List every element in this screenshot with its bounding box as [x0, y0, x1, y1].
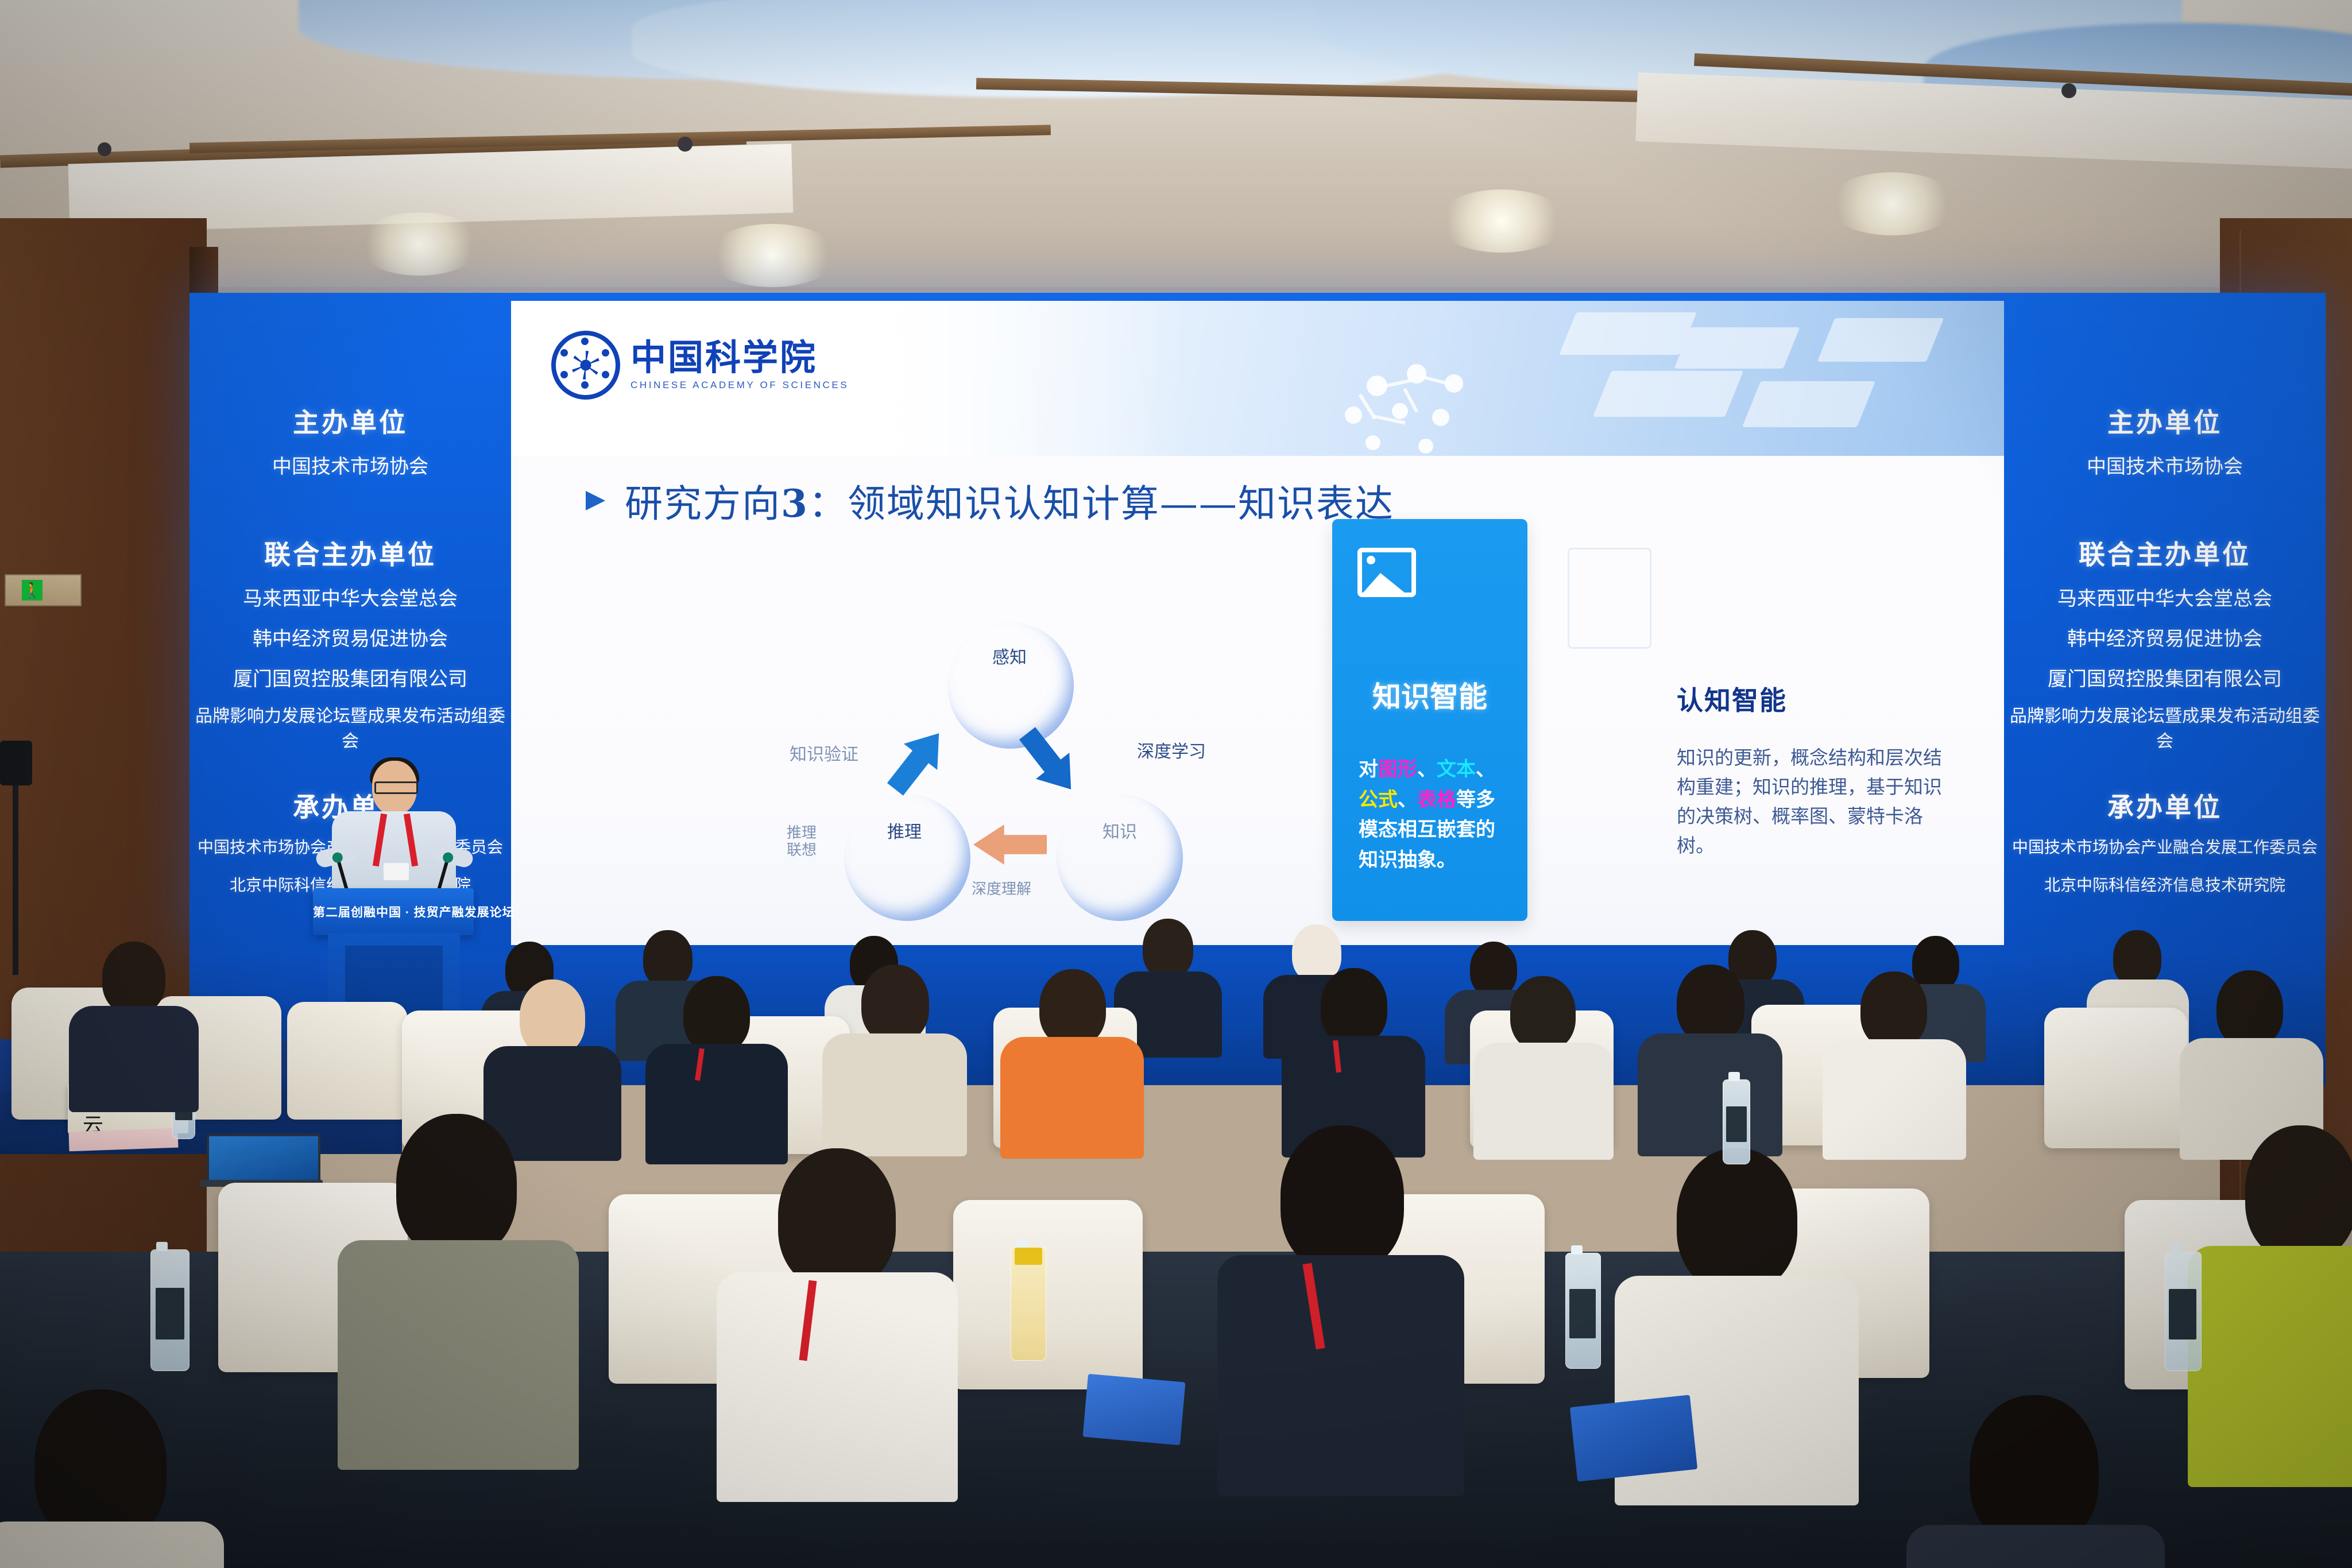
attendee-body: [1217, 1255, 1464, 1496]
led-stage-screen: 主办单位 中国技术市场协会 联合主办单位 马来西亚中华大会堂总会 韩中经济贸易促…: [189, 293, 2326, 953]
cas-name-en: CHINESE ACADEMY OF SCIENCES: [630, 380, 849, 391]
attendee-head: [1039, 969, 1106, 1046]
attendee-head: [396, 1114, 517, 1257]
attendee-head: [1281, 1125, 1404, 1272]
attendee-head: [1677, 1148, 1797, 1292]
conference-hall-photo: 🚶 主办单位 中国技术市场协会 联合主办单位 马来西亚中华大会堂总会 韩中经济贸…: [0, 0, 2352, 1568]
right-cohost-org-3: 厦门国贸控股集团有限公司: [2004, 663, 2326, 691]
ceiling-spotlight-2: [98, 142, 111, 156]
title-number: 3: [781, 481, 808, 526]
attendee-body: [822, 1033, 967, 1156]
ceiling-downlight-2: [706, 224, 838, 287]
water-bottle-4: [2165, 1252, 2202, 1371]
slide-title-row: 研究方向3：领域知识认知计算——知识表达: [586, 473, 1394, 528]
bottle-label: [1569, 1289, 1596, 1338]
cycle-label-knowledge-verification: 知识验证: [790, 740, 858, 765]
card-sep-2: 、: [1476, 758, 1495, 780]
card-highlight-table: 表格: [1417, 789, 1456, 811]
laptop: [207, 1134, 316, 1187]
attendee-body: [338, 1240, 579, 1470]
left-cohost-org-3: 厦门国贸控股集团有限公司: [189, 663, 511, 691]
cycle-label-deep-learning: 深度学习: [1137, 737, 1206, 762]
cycle-crescent-bottom-left: [844, 795, 970, 921]
right-cohost-label: 联合主办单位: [2004, 534, 2326, 572]
cas-name-cn: 中国科学院: [630, 340, 849, 375]
attendee-head: [2113, 930, 2161, 986]
attendee-body: [717, 1272, 958, 1502]
card-sep-1: 、: [1417, 758, 1437, 780]
attendee-head: [102, 942, 165, 1014]
left-cohost-org-4: 品牌影响力发展论坛暨成果发布活动组委会: [189, 702, 511, 752]
attendee-head: [2245, 1125, 2352, 1260]
cycle-label-deep-understanding: 深度理解: [972, 877, 1031, 899]
right-cohost-org-4: 品牌影响力发展论坛暨成果发布活动组委会: [2004, 702, 2326, 752]
left-host-org: 中国技术市场协会: [189, 451, 511, 479]
cycle-arrow-left: [973, 824, 1047, 865]
attendee-body: [1638, 1033, 1782, 1156]
bottle-label: [1726, 1106, 1747, 1142]
attendee-head: [520, 979, 585, 1055]
podium-forum-title: 第二届创融中国 · 技贸产融发展论坛: [313, 903, 474, 920]
attendee-body: [645, 1044, 788, 1164]
title-suffix: ：领域知识认知计算——知识表达: [808, 482, 1394, 526]
molecule-node-5: [1392, 403, 1408, 419]
attendee-head: [1143, 919, 1193, 978]
audience-chair: [2044, 1008, 2188, 1148]
laptop-screen: [207, 1134, 320, 1184]
right-organizer-label: 承办单位: [2004, 787, 2326, 824]
bullet-triangle-icon: [586, 491, 605, 510]
card-title: 知识智能: [1332, 674, 1527, 715]
keyboard-key-5: [1817, 318, 1944, 362]
right-organizer-org-2: 北京中际科信经济信息技术研究院: [2004, 873, 2326, 896]
right-host-label: 主办单位: [2004, 402, 2326, 440]
ceiling-downlight-3: [1436, 189, 1568, 253]
molecule-node-7: [1365, 435, 1380, 450]
molecule-node-8: [1418, 439, 1433, 454]
card-highlight-text: 文本: [1437, 758, 1476, 780]
molecule-node-4: [1345, 406, 1362, 424]
attendee-head: [1470, 942, 1517, 997]
water-bottle-1: [150, 1249, 189, 1371]
cycle-label-reasoning: 推理: [887, 818, 922, 843]
right-cohost-org-1: 马来西亚中华大会堂总会: [2004, 583, 2326, 611]
camera-tripod-pole: [13, 785, 18, 975]
cas-logo: 中国科学院 CHINESE ACADEMY OF SCIENCES: [551, 331, 849, 400]
cas-emblem-icon: [551, 331, 620, 400]
right-host-org: 中国技术市场协会: [2004, 451, 2326, 479]
attendee-head: [1860, 971, 1927, 1048]
cycle-arrow-up-left: [879, 720, 956, 802]
right-organizer-org-1: 中国技术市场协会产业融合发展工作委员会: [2004, 835, 2326, 858]
keyboard-key-3: [1593, 371, 1743, 417]
audience-chair: [953, 1200, 1143, 1389]
speaker-badge: [384, 863, 409, 880]
slide-title: 研究方向3：领域知识认知计算——知识表达: [625, 473, 1394, 528]
keyboard-key-2: [1674, 327, 1800, 369]
left-host-label: 主办单位: [189, 402, 511, 440]
attendee-head: [1292, 924, 1341, 982]
knowledge-intelligence-card: 知识智能 对图形、文本、公式、表格等多模态相互嵌套的知识抽象。: [1332, 519, 1527, 921]
attendee-head: [1912, 936, 1959, 991]
water-bottle-5: [1723, 1079, 1750, 1164]
bottle-label: [156, 1288, 184, 1339]
cycle-label-perception: 感知: [992, 643, 1027, 668]
ceiling-downlight-1: [356, 212, 482, 276]
attendee-body: [1823, 1039, 1966, 1160]
attendee-body: [0, 1521, 224, 1568]
conference-folder-2: [1083, 1374, 1186, 1445]
bottle-label: [2169, 1289, 2196, 1339]
cycle-label-reasoning-association: 推理联想: [787, 824, 821, 859]
attendee-head: [1677, 965, 1744, 1043]
presentation-slide: 中国科学院 CHINESE ACADEMY OF SCIENCES 研究方向3：…: [511, 301, 2004, 945]
conference-folder: [1570, 1395, 1697, 1481]
speaker-glasses: [374, 781, 418, 794]
ceiling-downlight-4: [1826, 172, 1958, 235]
attendee-body: [1000, 1037, 1144, 1159]
attendee-body: [1473, 1043, 1614, 1160]
water-bottle-3: [1565, 1253, 1601, 1369]
cognitive-title: 认知智能: [1677, 680, 1952, 718]
cognitive-body: 知识的更新，概念结构和层次结构重建；知识的推理，基于知识的决策树、概率图、蒙特卡…: [1677, 743, 1952, 861]
attendee-head: [2216, 970, 2283, 1047]
cycle-crescent-top: [947, 622, 1074, 749]
camera-rig: [0, 741, 34, 982]
attendee-head: [683, 976, 750, 1053]
keyboard-key-1: [1559, 312, 1697, 355]
ceiling-spotlight-1: [678, 137, 693, 152]
ghost-placeholder-box: [1568, 548, 1651, 649]
card-sep-3: 、: [1398, 789, 1417, 811]
podium-top-panel: 第二届创融中国 · 技贸产融发展论坛: [313, 888, 474, 935]
right-cohost-org-2: 韩中经济贸易促进协会: [2004, 623, 2326, 651]
head-table-paper: [68, 1128, 178, 1152]
ceiling-spotlight-3: [2061, 83, 2076, 98]
attendee-body: [2188, 1246, 2352, 1487]
cognitive-intelligence-block: 认知智能 知识的更新，概念结构和层次结构重建；知识的推理，基于知识的决策树、概率…: [1677, 680, 1952, 861]
keyboard-key-4: [1742, 381, 1875, 427]
emergency-exit-sign: 🚶: [5, 574, 82, 606]
cycle-label-knowledge: 知识: [1102, 818, 1137, 843]
camera-body: [0, 741, 32, 785]
knowledge-cycle-diagram: 感知 深度学习 知识 推理 知识验证 深度理解 推理联想: [758, 622, 1275, 921]
bottle-label: [1015, 1248, 1042, 1265]
water-bottle-2: [1011, 1247, 1046, 1361]
head-table-chair-3: [287, 1002, 408, 1120]
exit-running-man-icon: 🚶: [22, 580, 42, 601]
card-highlight-formula: 公式: [1359, 789, 1398, 811]
left-cohost-label: 联合主办单位: [189, 534, 511, 572]
card-body-text: 对图形、文本、公式、表格等多模态相互嵌套的知识抽象。: [1359, 754, 1514, 876]
attendee-head: [778, 1148, 896, 1289]
left-cohost-org-1: 马来西亚中华大会堂总会: [189, 583, 511, 611]
attendee-head: [1510, 976, 1576, 1051]
card-highlight-graphics: 图形: [1378, 758, 1417, 780]
attendee-head: [861, 965, 929, 1043]
title-prefix: 研究方向: [625, 482, 781, 526]
attendee-body: [1906, 1525, 2165, 1568]
right-sponsor-banner: 主办单位 中国技术市场协会 联合主办单位 马来西亚中华大会堂总会 韩中经济贸易促…: [2004, 293, 2326, 953]
cycle-crescent-bottom-right: [1057, 795, 1183, 921]
attendee-head: [1321, 968, 1387, 1045]
card-text-plain-1: 对: [1359, 758, 1378, 780]
image-picture-icon: [1357, 548, 1416, 597]
molecule-node-6: [1432, 409, 1449, 426]
attendee-head: [643, 930, 693, 988]
left-cohost-org-2: 韩中经济贸易促进协会: [189, 623, 511, 651]
attendee-body: [69, 1006, 199, 1112]
